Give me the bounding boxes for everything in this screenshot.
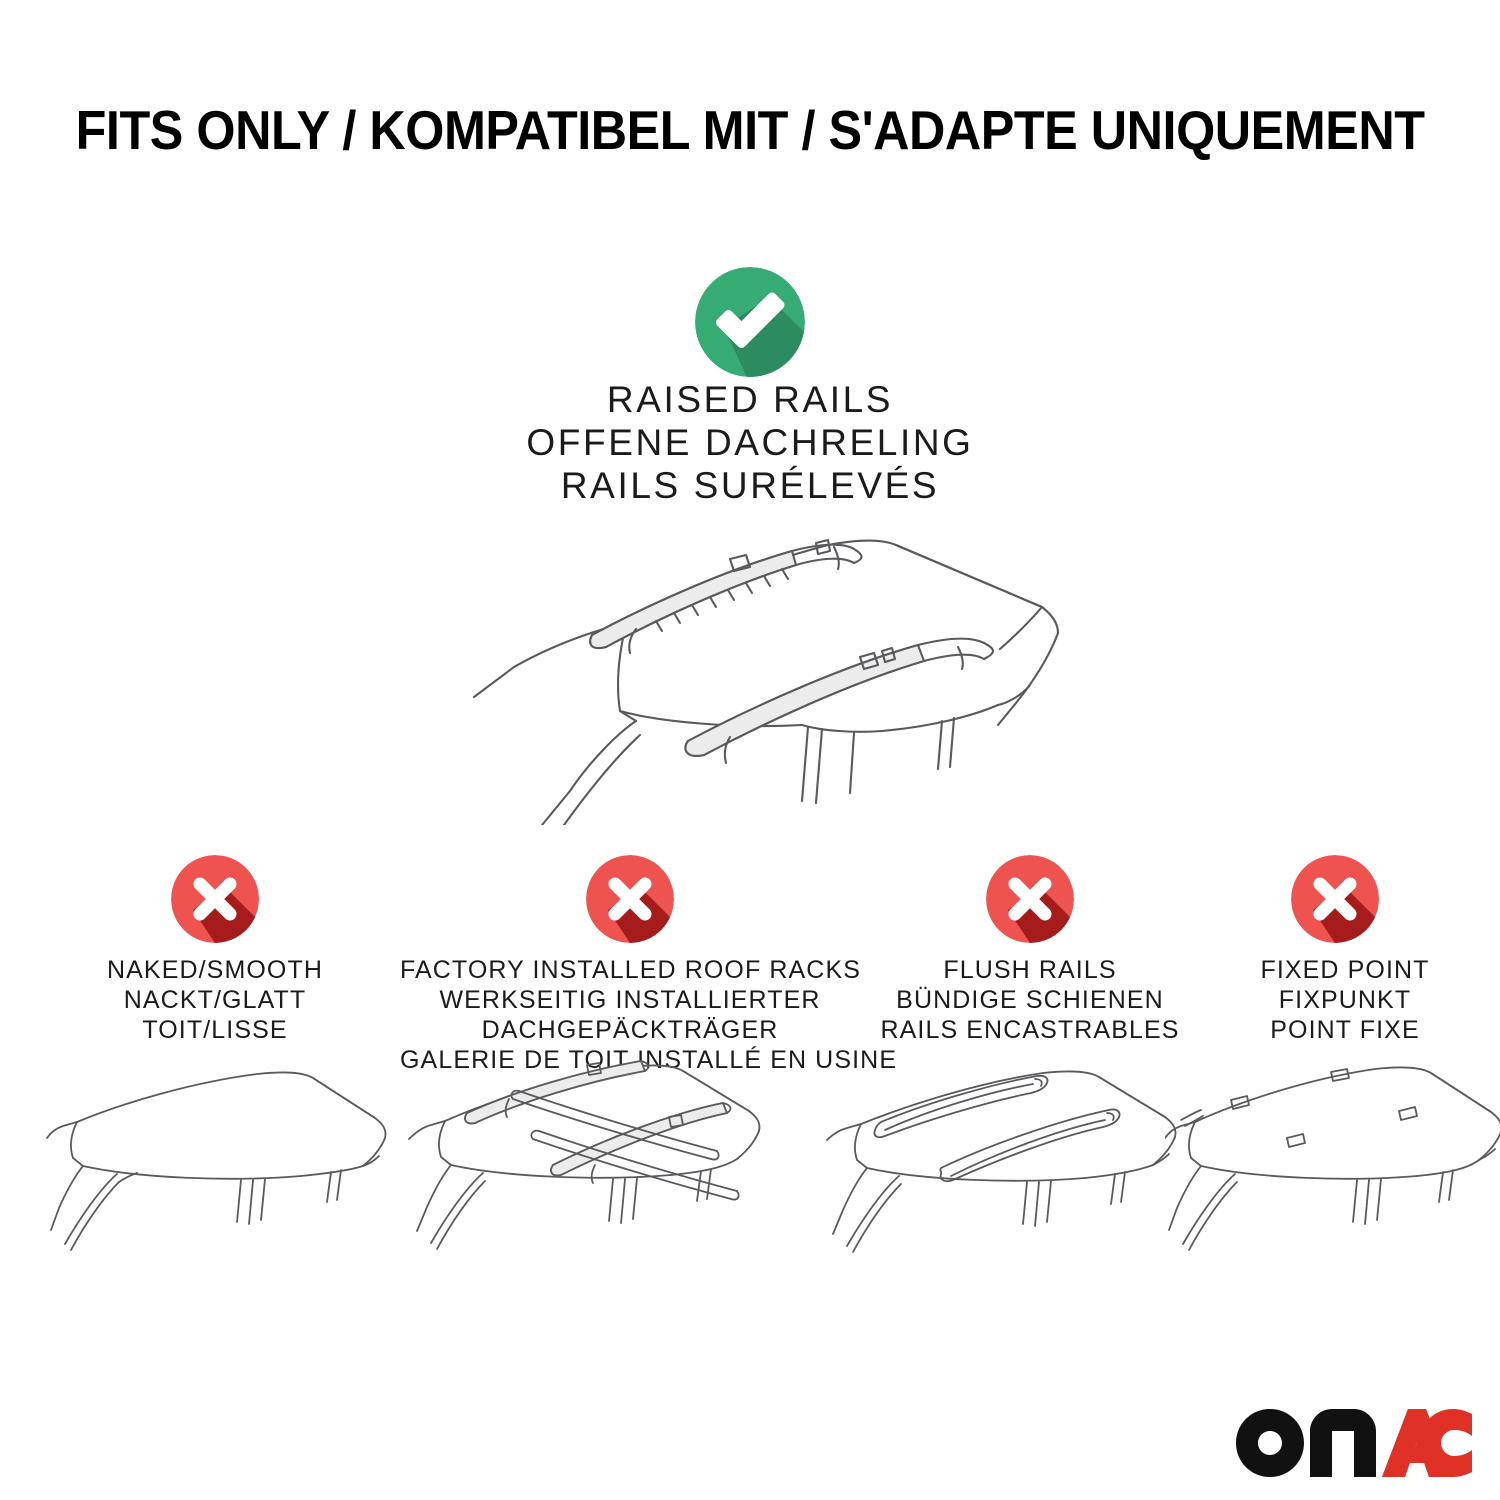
rejected-label-line: POINT FIXE: [1200, 1015, 1490, 1045]
omac-logo: [1236, 1405, 1472, 1477]
rejected-label-block: FLUSH RAILS BÜNDIGE SCHIENEN RAILS ENCAS…: [860, 955, 1200, 1045]
rejected-label-line: BÜNDIGE SCHIENEN: [860, 985, 1200, 1015]
rejected-label-line: DACHGEPÄCKTRÄGER: [400, 1015, 860, 1045]
approved-label-block: RAISED RAILS OFFENE DACHRELING RAILS SUR…: [0, 378, 1500, 507]
x-circle-icon: [986, 855, 1074, 943]
x-circle-icon: [1291, 855, 1379, 943]
rejected-label-block: FIXED POINT FIXPUNKT POINT FIXE: [1200, 955, 1490, 1045]
rejected-label-block: NAKED/SMOOTH NACKT/GLATT TOIT/LISSE: [20, 955, 410, 1045]
rejected-label-line: NACKT/GLATT: [20, 985, 410, 1015]
x-circle-icon: [171, 855, 259, 943]
approved-label-line: RAISED RAILS: [0, 378, 1500, 421]
car-roof-bare-illustration: [45, 1060, 405, 1295]
rejected-label-line: NAKED/SMOOTH: [20, 955, 410, 985]
rejected-label-line: FACTORY INSTALLED ROOF RACKS: [400, 955, 860, 985]
car-roof-with-flush-rails-illustration: [825, 1060, 1205, 1295]
page-title: FITS ONLY / KOMPATIBEL MIT / S'ADAPTE UN…: [76, 98, 1425, 162]
rejected-label-line: RAILS ENCASTRABLES: [860, 1015, 1200, 1045]
car-roof-with-factory-crossbars-illustration: [405, 1055, 790, 1295]
rejected-label-line: WERKSEITIG INSTALLIERTER: [400, 985, 860, 1015]
header: FITS ONLY / KOMPATIBEL MIT / S'ADAPTE UN…: [0, 98, 1500, 162]
car-roof-with-raised-rails-illustration: [430, 525, 1080, 825]
x-circle-icon: [586, 855, 674, 943]
rejected-label-line: TOIT/LISSE: [20, 1015, 410, 1045]
approved-label-line: OFFENE DACHRELING: [0, 421, 1500, 464]
approved-label-line: RAILS SURÉLEVÉS: [0, 464, 1500, 507]
rejected-label-line: FIXPUNKT: [1200, 985, 1490, 1015]
check-circle-icon: [695, 267, 805, 377]
rejected-label-line: FLUSH RAILS: [860, 955, 1200, 985]
car-roof-with-fixed-points-illustration: [1165, 1058, 1500, 1295]
rejected-label-line: FIXED POINT: [1200, 955, 1490, 985]
